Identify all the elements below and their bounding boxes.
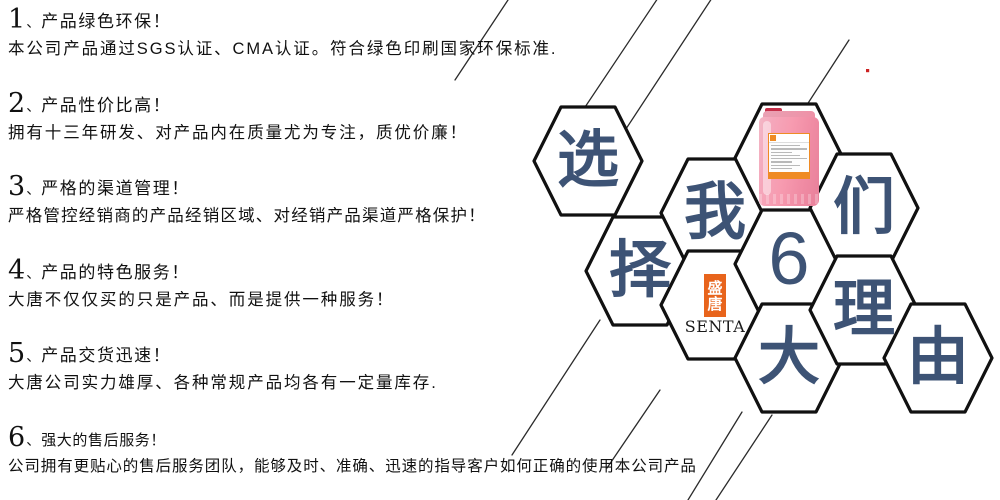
logo-wordmark: SENTA (683, 318, 747, 336)
jerrycan-label (768, 133, 810, 179)
label-header (769, 134, 809, 143)
label-text-lines (769, 143, 809, 169)
label-logo-square (770, 135, 776, 141)
logo-stamp-char-2: 唐 (707, 296, 722, 312)
logo-stamp-char-1: 盛 (707, 280, 722, 296)
jerrycan-ribs (759, 194, 819, 204)
brand-logo: 盛 唐 SENTA (683, 274, 747, 336)
hexagon-xuan (534, 107, 642, 215)
hexagon-cluster: 选 择 我 6 大 们 理 由 盛 唐 SENTA (0, 0, 1000, 500)
hexagon-outlines (0, 0, 1000, 500)
product-jerrycan-image (757, 107, 821, 207)
logo-stamp-icon: 盛 唐 (704, 274, 726, 317)
label-footer-bar (769, 172, 809, 178)
promo-banner: 1 、 产品绿色环保！ 本公司产品通过SGS认证、CMA认证。符合绿色印刷国家环… (0, 0, 1000, 500)
